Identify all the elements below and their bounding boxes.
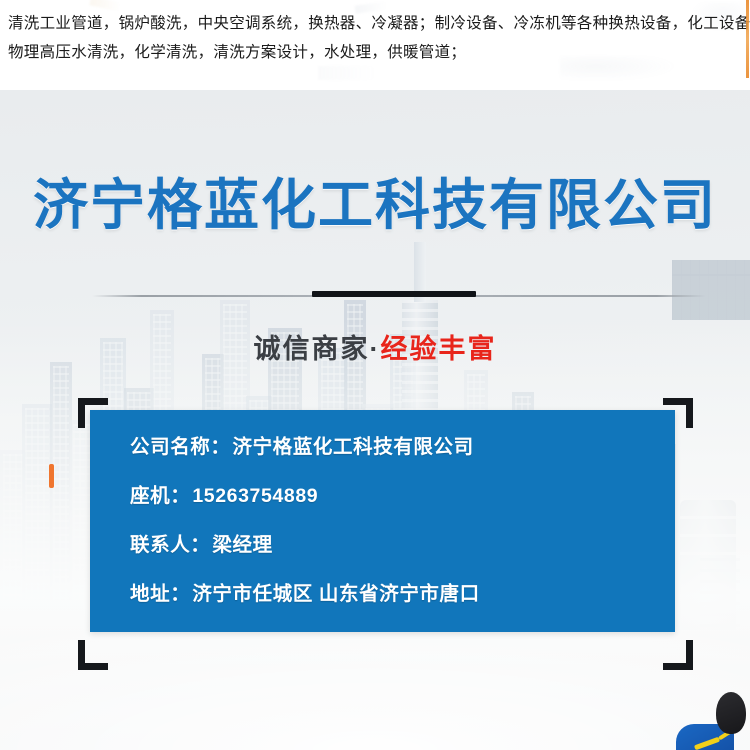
subtitle-red-text: 经验丰富 [381,334,497,364]
info-label-address: 地址： [130,583,190,605]
watermark-wisp [318,66,378,80]
contact-info-card: 公司名称：济宁格蓝化工科技有限公司 座机：15263754889 联系人：梁经理… [90,410,675,632]
corner-bracket-bottom-right [663,640,693,670]
company-headline: 济宁格蓝化工科技有限公司 [0,160,750,240]
subtitle-grey-text: 诚信商家· [254,334,381,364]
info-row-address: 地址：济宁市任城区 山东省济宁市唐口 [130,577,480,606]
orange-edge-accent [746,0,749,78]
watermark-wisp [560,56,680,82]
description-band: 清洗工业管道，锅炉酸洗，中央空调系统，换热器、冷凝器；制冷设备、冷冻机等各种换热… [0,0,750,90]
corner-bracket-top-right [663,398,693,428]
info-value-contact-person: 梁经理 [212,534,272,556]
info-value-address: 济宁市任城区 山东省济宁市唐口 [192,583,479,605]
corner-bracket-top-left [78,398,108,428]
page-root: 清洗工业管道，锅炉酸洗，中央空调系统，换热器、冷凝器；制冷设备、冷冻机等各种换热… [0,0,750,750]
info-row-contact-person: 联系人：梁经理 [130,528,273,557]
info-row-company-name: 公司名称：济宁格蓝化工科技有限公司 [130,430,474,459]
info-value-phone: 15263754889 [192,485,318,507]
description-line-1: 清洗工业管道，锅炉酸洗，中央空调系统，换热器、冷凝器；制冷设备、冷冻机等各种换热… [8,11,750,33]
headline-divider-core [312,291,476,297]
company-subtitle: 诚信商家·经验丰富 [0,327,750,366]
cooling-tower-slats [700,558,740,630]
info-value-company-name: 济宁格蓝化工科技有限公司 [233,436,474,458]
info-label-phone: 座机： [130,485,190,507]
info-label-company-name: 公司名称： [130,436,231,458]
corner-bracket-bottom-left [78,640,108,670]
info-label-contact-person: 联系人： [130,534,210,556]
description-line-2: 物理高压水清洗，化学清洗，清洗方案设计，水处理，供暖管道； [8,40,466,62]
power-pylon [672,260,750,320]
orange-accent-marker [49,464,54,488]
info-row-phone: 座机：15263754889 [130,479,318,508]
worker-figure [678,688,750,750]
